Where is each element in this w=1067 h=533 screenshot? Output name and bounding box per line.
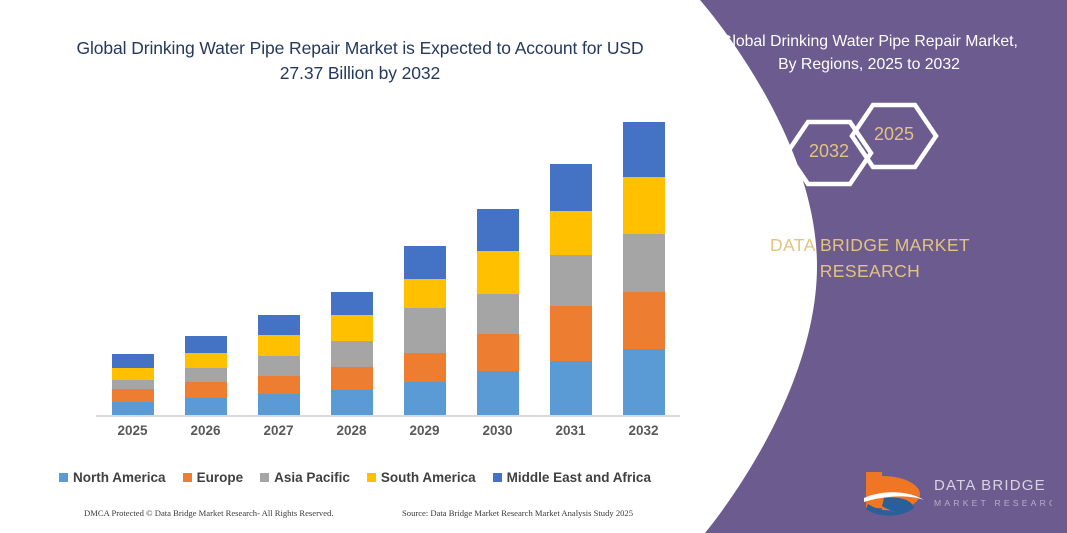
bar-segment[interactable] [477,294,519,334]
bar-segment[interactable] [623,349,665,416]
legend-swatch-icon [183,473,192,482]
legend-item-north-america[interactable]: North America [59,470,166,485]
bar-segment[interactable] [550,255,592,305]
bar-segment[interactable] [258,376,300,395]
bar-segment[interactable] [112,368,154,380]
bar-segment[interactable] [404,246,446,279]
bar-segment[interactable] [477,209,519,251]
bar-segment[interactable] [477,251,519,293]
bar-segment[interactable] [331,390,373,416]
brand-name: DATA BRIDGE MARKET RESEARCH [725,232,1015,284]
footer-source: Source: Data Bridge Market Research Mark… [402,508,633,518]
bar-segment[interactable] [404,279,446,308]
bar-stack-2029[interactable] [404,246,446,416]
hexagon-badges: 2032 2025 [777,96,947,201]
bar-segment[interactable] [623,122,665,177]
bar-segment[interactable] [112,380,154,390]
bar-segment[interactable] [550,164,592,210]
bar-stack-2032[interactable] [623,122,665,416]
legend-label: South America [381,470,476,485]
bar-segment[interactable] [404,308,446,353]
x-axis-label-2030: 2030 [462,423,534,438]
page-title: Global Drinking Water Pipe Repair Market… [60,36,660,86]
x-axis-label-2027: 2027 [243,423,315,438]
x-axis-label-2026: 2026 [170,423,242,438]
logo-primary-text: DATA BRIDGE [934,477,1046,494]
bar-segment[interactable] [404,353,446,383]
legend-label: North America [73,470,166,485]
chart-panel: Global Drinking Water Pipe Repair Market… [0,0,710,533]
legend-label: Middle East and Africa [507,470,651,485]
bar-segment[interactable] [331,367,373,391]
legend-item-south-america[interactable]: South America [367,470,476,485]
bar-stack-2025[interactable] [112,354,154,416]
bar-segment[interactable] [550,211,592,255]
legend-item-asia-pacific[interactable]: Asia Pacific [260,470,350,485]
legend-swatch-icon [260,473,269,482]
bar-segment[interactable] [623,234,665,291]
chart-plot-area [96,120,680,416]
x-axis-label-2025: 2025 [97,423,169,438]
bar-segment[interactable] [331,292,373,316]
infographic-root: Global Drinking Water Pipe Repair Market… [0,0,1067,533]
legend-swatch-icon [493,473,502,482]
bar-segment[interactable] [185,382,227,398]
bar-segment[interactable] [112,402,154,416]
legend-label: Europe [197,470,244,485]
bar-segment[interactable] [550,306,592,361]
brand-panel-title: Global Drinking Water Pipe Repair Market… [709,30,1029,76]
legend-item-europe[interactable]: Europe [183,470,244,485]
bar-segment[interactable] [185,368,227,383]
bar-segment[interactable] [258,315,300,335]
hexagon-label-2025: 2025 [865,124,923,145]
bar-segment[interactable] [404,382,446,416]
brand-panel: Global Drinking Water Pipe Repair Market… [667,0,1067,533]
bar-segment[interactable] [185,353,227,368]
hexagon-label-2032: 2032 [800,141,858,162]
bar-stack-2028[interactable] [331,292,373,416]
x-axis-label-2028: 2028 [316,423,388,438]
bar-stack-2030[interactable] [477,209,519,416]
chart-legend: North AmericaEuropeAsia PacificSouth Ame… [0,470,710,485]
bar-segment[interactable] [331,341,373,367]
bar-segment[interactable] [185,336,227,353]
legend-item-middle-east-and-africa[interactable]: Middle East and Africa [493,470,651,485]
bar-segment[interactable] [258,356,300,376]
bar-segment[interactable] [185,398,227,416]
bar-segment[interactable] [112,354,154,368]
bar-segment[interactable] [258,335,300,356]
legend-swatch-icon [367,473,376,482]
bar-segment[interactable] [477,334,519,371]
legend-label: Asia Pacific [274,470,350,485]
bar-segment[interactable] [550,361,592,416]
bar-segment[interactable] [623,292,665,349]
legend-swatch-icon [59,473,68,482]
x-axis-label-2029: 2029 [389,423,461,438]
bar-segment[interactable] [477,371,519,416]
chart-axis-line [96,415,680,417]
x-axis-label-2031: 2031 [535,423,607,438]
logo-secondary-text: MARKET RESEARCH [934,498,1052,508]
bar-segment[interactable] [331,315,373,341]
footer-copyright: DMCA Protected © Data Bridge Market Rese… [84,508,334,518]
logo-b-mark [864,472,924,516]
bar-stack-2031[interactable] [550,164,592,416]
bar-segment[interactable] [623,177,665,234]
bar-segment[interactable] [112,389,154,402]
bar-segment[interactable] [258,394,300,416]
chart-x-axis-labels: 20252026202720282029203020312032 [96,423,680,445]
bar-stack-2027[interactable] [258,315,300,416]
company-logo: DATA BRIDGE MARKET RESEARCH [862,468,1052,520]
bar-stack-2026[interactable] [185,336,227,416]
